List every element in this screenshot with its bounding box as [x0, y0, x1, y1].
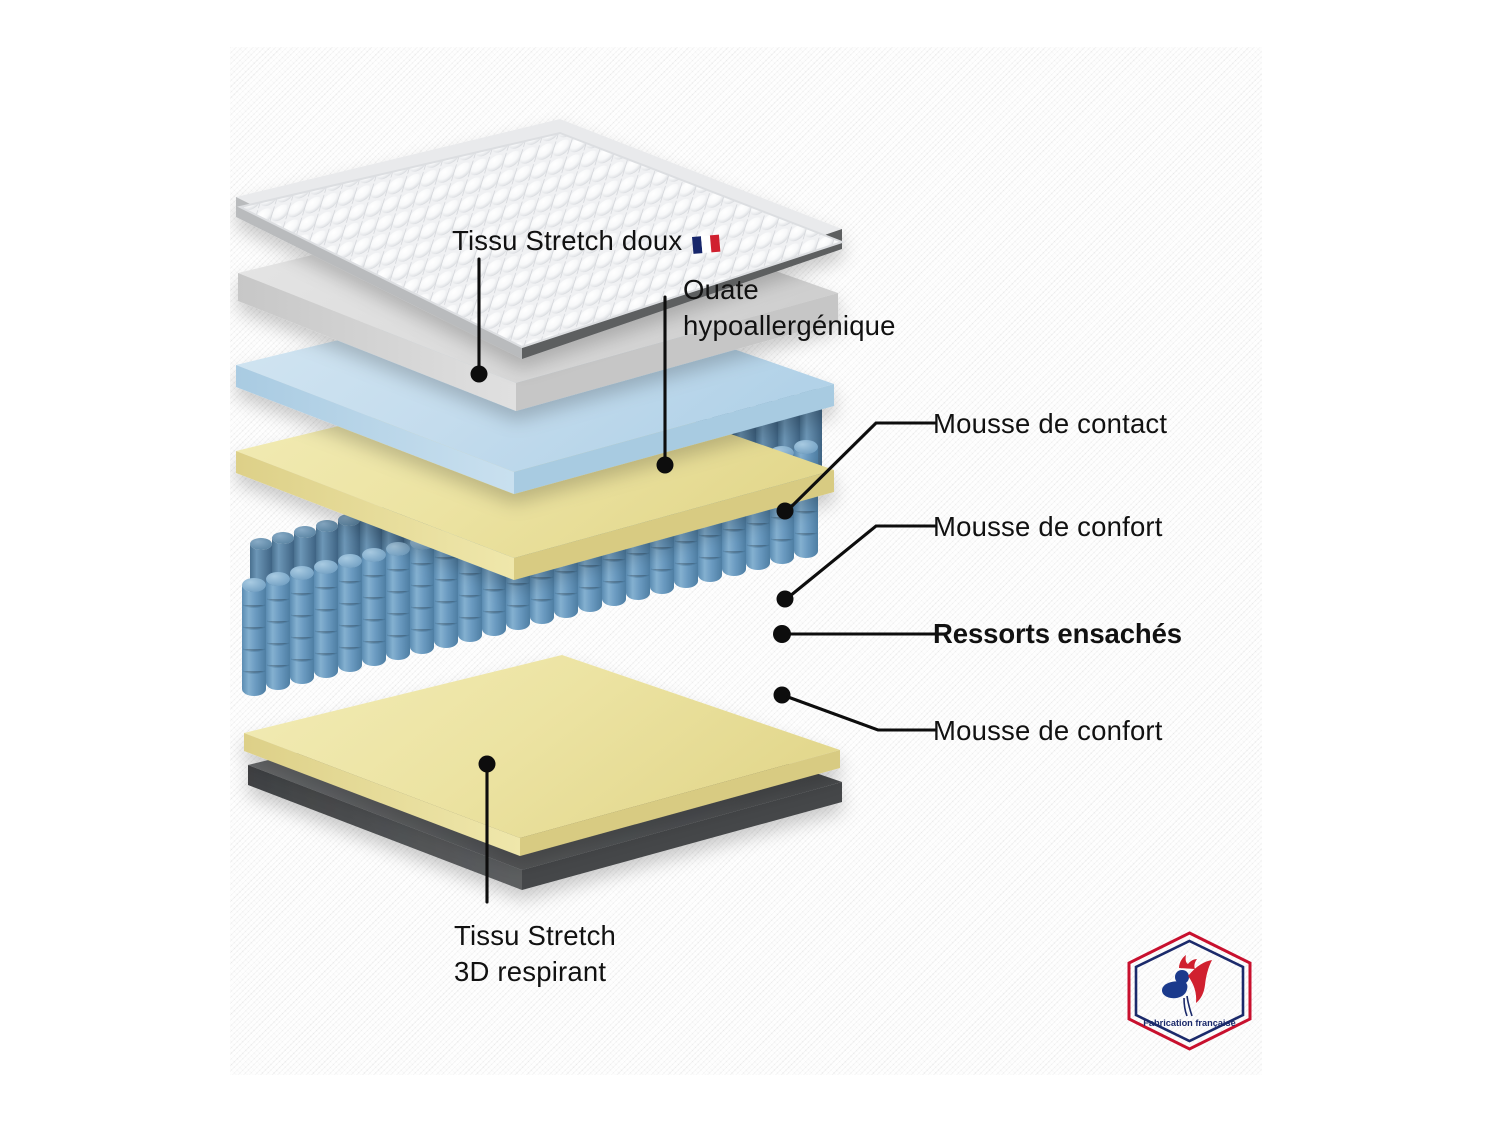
badge-label: Fabrication française	[1143, 1018, 1235, 1028]
label-springs: Ressorts ensachés	[933, 618, 1182, 650]
label-contact-foam: Mousse de contact	[933, 408, 1167, 440]
label-comfort-foam-bottom: Mousse de confort	[933, 715, 1163, 747]
rooster-icon-head	[1175, 970, 1189, 984]
leader-dot-springs	[773, 625, 791, 643]
leader-dot-comfort-top	[777, 591, 794, 608]
leader-dot-wadding	[657, 457, 674, 474]
mattress-layers-artwork	[230, 47, 1262, 1075]
label-wadding-line1: Ouate	[683, 274, 759, 306]
leader-comfort-bottom	[788, 697, 935, 730]
label-top-cover: Tissu Stretch doux	[452, 225, 682, 257]
label-comfort-foam-top: Mousse de confort	[933, 511, 1163, 543]
rooster-icon-comb	[1179, 955, 1197, 969]
label-bottom-cover-line1: Tissu Stretch	[454, 920, 616, 952]
figure-canvas: Tissu Stretch doux Ouate hypoallergéniqu…	[0, 0, 1500, 1125]
label-bottom-cover-line2: 3D respirant	[454, 956, 606, 988]
fabrication-francaise-badge: Fabrication française	[1122, 930, 1257, 1052]
badge-artwork: Fabrication française	[1122, 930, 1257, 1052]
label-wadding-line2: hypoallergénique	[683, 310, 896, 342]
badge-hexagon-outer	[1129, 933, 1250, 1049]
french-flag-icon	[692, 235, 720, 254]
leader-dot-top-cover	[471, 366, 488, 383]
rooster-icon-legs	[1184, 996, 1192, 1016]
leader-dot-comfort-bottom	[774, 687, 791, 704]
mattress-cutaway-illustration: Tissu Stretch doux Ouate hypoallergéniqu…	[230, 47, 1262, 1075]
